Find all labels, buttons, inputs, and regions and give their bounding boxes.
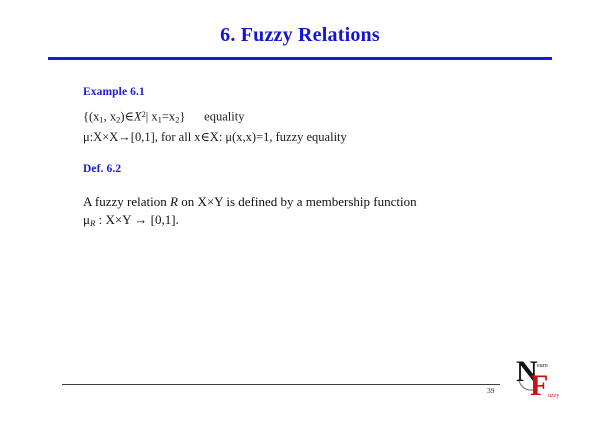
example-math-block: {(x1, x2)∈X2| x1=x2} equality μ:X×X→[0,1… — [83, 105, 553, 146]
section-spacer — [83, 146, 553, 163]
math-line-equality-set: {(x1, x2)∈X2| x1=x2} equality — [83, 105, 553, 128]
definition-line-1: A fuzzy relation R on X×Y is defined by … — [83, 193, 553, 211]
footer-divider — [62, 384, 500, 385]
title-divider — [48, 57, 552, 60]
slide-body: Example 6.1 {(x1, x2)∈X2| x1=x2} equalit… — [83, 86, 553, 232]
svg-text:F: F — [530, 369, 548, 402]
definition-paragraph: A fuzzy relation R on X×Y is defined by … — [83, 193, 553, 232]
page-number: 39 — [487, 386, 495, 395]
math-line-fuzzy-equality: μ:X×X→[0,1], for all x∈X: μ(x,x)=1, fuzz… — [83, 128, 553, 146]
neurofuzzy-logo: N euro F uzzy — [516, 355, 578, 403]
heading-spacer — [83, 182, 553, 193]
svg-text:uzzy: uzzy — [548, 393, 559, 399]
section-heading-example: Example 6.1 — [83, 86, 553, 98]
slide-canvas: 6. Fuzzy Relations Example 6.1 {(x1, x2)… — [0, 0, 600, 424]
definition-line-2: μR : X×Y → [0,1]. — [83, 211, 553, 232]
neurofuzzy-logo-icon: N euro F uzzy — [516, 355, 578, 403]
section-heading-definition: Def. 6.2 — [83, 163, 553, 175]
page-title: 6. Fuzzy Relations — [0, 24, 600, 47]
